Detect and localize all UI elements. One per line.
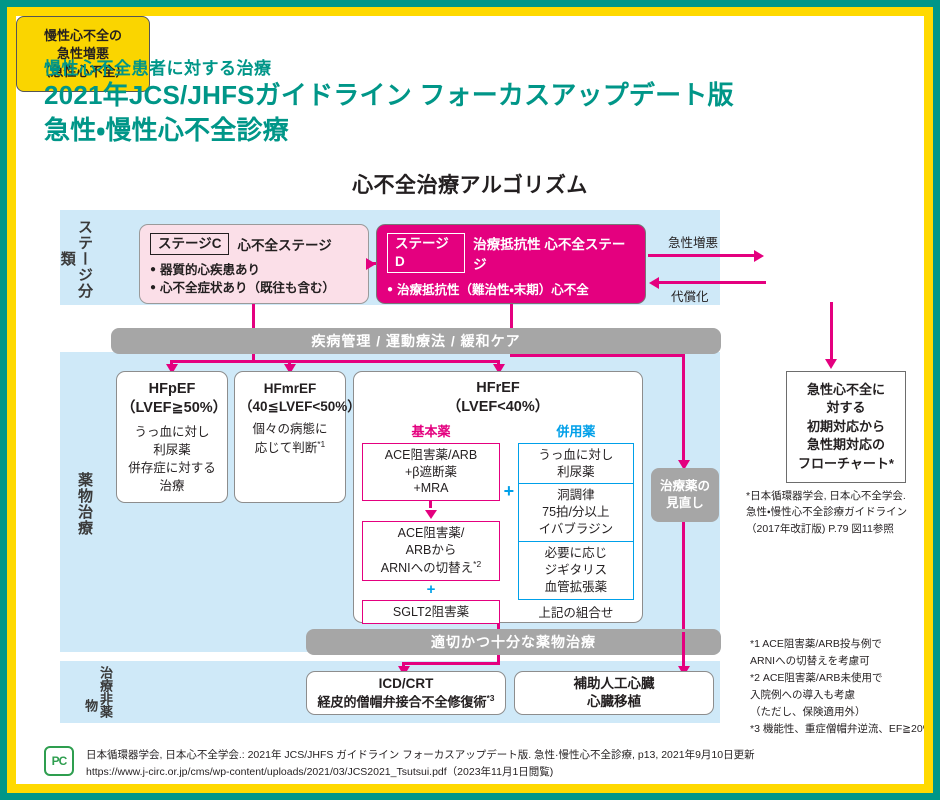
poster-page: 慢性心不全患者に対する治療 2021年JCS/JHFSガイドライン フォーカスア… bbox=[16, 16, 924, 784]
hfref-basic-arrow-stem bbox=[429, 501, 432, 508]
arrow-compensate-head bbox=[649, 277, 659, 289]
arrow-acute-to-flow-head bbox=[825, 359, 837, 369]
stage-d-bullet-1-text: 治療抵抗性（難治性・末期）心不全 bbox=[397, 281, 589, 299]
hfref-title: HFrEF （LVEF<40%） bbox=[362, 379, 634, 417]
hfref-inner-plus: + bbox=[362, 582, 500, 599]
icd-crt-line2-text: 経皮的僧帽弁接合不全修復術 bbox=[317, 695, 486, 710]
hfref-basic-item-2: ACE阻害薬/ ARBから ARNIへの切替え*2 bbox=[362, 521, 500, 581]
bullet-dot-icon: ● bbox=[387, 281, 393, 298]
label-acute-worsening: 急性増悪 bbox=[668, 232, 718, 251]
pc-logo-icon: PC bbox=[44, 746, 74, 776]
reference-note: *日本循環器学会, 日本心不全学会. 急性・慢性心不全診療ガイドライン （201… bbox=[746, 488, 924, 537]
hfref-basic-item-1: ACE阻害薬/ARB +β遮断薬 +MRA bbox=[362, 443, 500, 502]
label-compensation: 代償化 bbox=[671, 286, 709, 305]
hfref-basic-head: 基本薬 bbox=[362, 421, 500, 440]
outer-teal-frame: 慢性心不全患者に対する治療 2021年JCS/JHFSガイドライン フォーカスア… bbox=[0, 0, 940, 800]
stage-c-title-row: ステージC 心不全ステージ bbox=[150, 233, 358, 255]
hfpef-title: HFpEF （LVEF≧50%） bbox=[121, 380, 223, 418]
line-review-down bbox=[682, 522, 685, 632]
arrow-acute-to-flow-line bbox=[830, 302, 833, 359]
hfref-basic-column: 基本薬 ACE阻害薬/ARB +β遮断薬 +MRA ACE阻害薬/ ARBから … bbox=[362, 421, 500, 625]
stage-c-bullet-1: ● 器質的心疾患あり bbox=[150, 261, 358, 279]
vad-line2: 心臓移植 bbox=[587, 693, 641, 711]
icd-crt-line2: 経皮的僧帽弁接合不全修復術*3 bbox=[317, 693, 494, 711]
line-to-review-box bbox=[682, 354, 685, 464]
inner-yellow-frame: 慢性心不全患者に対する治療 2021年JCS/JHFSガイドライン フォーカスア… bbox=[7, 7, 933, 793]
hfref-basic-item-3: SGLT2阻害薬 bbox=[362, 600, 500, 625]
hfref-columns: 基本薬 ACE阻害薬/ARB +β遮断薬 +MRA ACE阻害薬/ ARBから … bbox=[362, 421, 634, 625]
icd-crt-line1: ICD/CRT bbox=[379, 675, 434, 693]
bullet-dot-icon: ● bbox=[150, 261, 156, 278]
label-nondrug-therapy: 治療 非薬物 bbox=[66, 666, 112, 718]
arrow-worsen-head bbox=[754, 250, 764, 262]
label-nondrug-line1: 非薬物 bbox=[90, 692, 112, 718]
stage-c-bullet-2-text: 心不全症状あり（既往も含む） bbox=[160, 279, 335, 297]
bar-adequate-drug-therapy: 適切かつ十分な薬物治療 bbox=[306, 629, 721, 655]
stage-d-bullet-1: ● 治療抵抗性（難治性・末期）心不全 bbox=[387, 281, 635, 299]
vad-transplant-box: 補助人工心臓 心臓移植 bbox=[514, 671, 714, 715]
hfref-box: HFrEF （LVEF<40%） 基本薬 ACE阻害薬/ARB +β遮断薬 +M… bbox=[353, 371, 643, 623]
hfref-basic-item-2-sup: *2 bbox=[473, 559, 481, 569]
stage-d-chip: ステージD bbox=[387, 233, 465, 273]
stage-d-title: 治療抵抗性 心不全ステージ bbox=[473, 233, 635, 273]
stage-c-bullet-1-text: 器質的心疾患あり bbox=[160, 261, 260, 279]
hfref-combo-head: 併用薬 bbox=[518, 421, 634, 440]
vad-line1: 補助人工心臓 bbox=[574, 675, 655, 693]
icd-crt-sup: *3 bbox=[486, 693, 494, 703]
footnotes: *1 ACE阻害薬/ARB投与例で ARNIへの切替えを考慮可 *2 ACE阻害… bbox=[750, 636, 924, 738]
label-stage-classification: ステージ分類 bbox=[71, 216, 93, 301]
stage-c-bullet-2: ● 心不全症状あり（既往も含む） bbox=[150, 279, 358, 297]
arrow-compensate-line bbox=[659, 281, 766, 284]
hfpef-body: うっ血に対し 利尿薬 併存症に対する 治療 bbox=[121, 423, 223, 496]
hfmref-body: 個々の病態に 応じて判断*1 bbox=[239, 420, 341, 457]
stage-c-chip: ステージC bbox=[150, 233, 229, 255]
line-to-vad bbox=[682, 632, 685, 670]
line-manage-fanout bbox=[170, 360, 500, 363]
stage-d-box: ステージD 治療抵抗性 心不全ステージ ● 治療抵抗性（難治性・末期）心不全 bbox=[376, 224, 646, 304]
hfref-combo-note: 上記の組合せ bbox=[518, 602, 634, 621]
stage-c-title: 心不全ステージ bbox=[237, 234, 331, 254]
treatment-review-box: 治療薬の 見直し bbox=[651, 468, 719, 522]
line-adequate-left bbox=[402, 662, 500, 665]
line-staged-to-manage bbox=[510, 304, 513, 328]
arrow-worsen-line bbox=[648, 254, 754, 257]
label-nondrug-line2: 治療 bbox=[90, 666, 112, 692]
bullet-dot-icon: ● bbox=[150, 279, 156, 296]
hfref-combo-item-2: 洞調律 75拍/分以上 イバブラジン bbox=[518, 483, 634, 541]
acute-flowchart-reference-box: 急性心不全に 対する 初期対応から 急性期対応の フローチャート* bbox=[786, 371, 906, 483]
line-stagec-to-manage bbox=[252, 304, 255, 328]
stage-d-title-row: ステージD 治療抵抗性 心不全ステージ bbox=[387, 233, 635, 273]
hfref-basic-arrow-head bbox=[425, 510, 437, 519]
source-row: PC 日本循環器学会, 日本心不全学会.: 2021年 JCS/JHFS ガイド… bbox=[44, 746, 906, 781]
hfpef-box: HFpEF （LVEF≧50%） うっ血に対し 利尿薬 併存症に対する 治療 bbox=[116, 371, 228, 503]
line-manage-to-review bbox=[510, 354, 685, 357]
hfmref-title: HFmrEF （40≦LVEF<50%） bbox=[239, 380, 341, 415]
figure-title: 心不全治療アルゴリズム bbox=[16, 169, 924, 199]
stage-c-box: ステージC 心不全ステージ ● 器質的心疾患あり ● 心不全症状あり（既往も含む… bbox=[139, 224, 369, 304]
icd-crt-box: ICD/CRT 経皮的僧帽弁接合不全修復術*3 bbox=[306, 671, 506, 715]
hfmref-box: HFmrEF （40≦LVEF<50%） 個々の病態に 応じて判断*1 bbox=[234, 371, 346, 503]
header-title: 2021年JCS/JHFSガイドライン フォーカスアップデート版 急性・慢性心不… bbox=[44, 78, 734, 147]
label-drug-therapy: 薬物治療 bbox=[71, 434, 93, 574]
hfref-combo-item-3: 必要に応じ ジギタリス 血管拡張薬 bbox=[518, 541, 634, 600]
hfref-join-plus: + bbox=[500, 421, 518, 502]
bar-disease-management: 疾病管理 / 運動療法 / 緩和ケア bbox=[111, 328, 721, 354]
source-citation: 日本循環器学会, 日本心不全学会.: 2021年 JCS/JHFS ガイドライン… bbox=[86, 746, 755, 781]
arrow-c-to-d-head bbox=[366, 258, 376, 270]
hfref-combo-column: 併用薬 うっ血に対し 利尿薬 洞調律 75拍/分以上 イバブラジン 必要に応じ … bbox=[518, 421, 634, 621]
header-subtitle: 慢性心不全患者に対する治療 bbox=[44, 54, 272, 79]
hfref-combo-item-1: うっ血に対し 利尿薬 bbox=[518, 443, 634, 484]
hfmref-sup: *1 bbox=[317, 439, 325, 449]
hfref-basic-item-2-text: ACE阻害薬/ ARBから ARNIへの切替え bbox=[381, 526, 473, 575]
